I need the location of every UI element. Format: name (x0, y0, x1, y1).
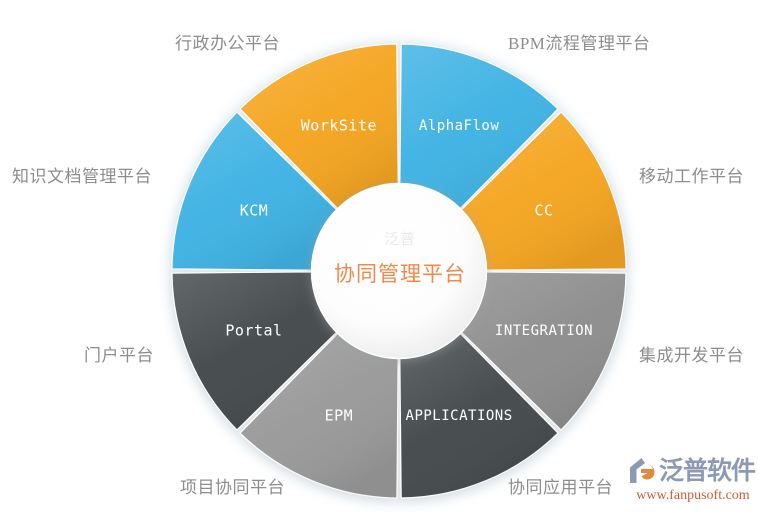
outer-label-worksite: 行政办公平台 (175, 34, 280, 54)
segment-code-epm: EPM (325, 407, 354, 425)
outer-label-cc: 移动工作平台 (639, 167, 744, 187)
segment-code-cc: CC (534, 201, 553, 219)
outer-label-portal: 门户平台 (84, 346, 154, 366)
outer-label-kcm: 知识文档管理平台 (12, 167, 152, 187)
center-ghost-text: 泛普 (313, 228, 487, 249)
watermark-url: www.fanpusoft.com (627, 488, 759, 504)
watermark: 泛普软件 www.fanpusoft.com (627, 455, 757, 507)
outer-label-alphaflow: BPM流程管理平台 (508, 34, 650, 54)
outer-label-epm: 项目协同平台 (180, 478, 285, 498)
segment-code-portal: Portal (225, 322, 282, 340)
watermark-brand: 泛普软件 (659, 456, 755, 486)
segment-code-alphaflow: AlphaFlow (419, 118, 499, 134)
donut-wheel: AlphaFlowCCINTEGRATIONAPPLICATIONSEPMPor… (0, 0, 759, 513)
outer-label-integration: 集成开发平台 (639, 346, 744, 366)
diagram-canvas: AlphaFlowCCINTEGRATIONAPPLICATIONSEPMPor… (0, 0, 759, 513)
center-title: 协同管理平台 (313, 258, 487, 288)
segment-code-applications: APPLICATIONS (406, 408, 513, 424)
segment-code-kcm: KCM (240, 201, 269, 219)
outer-label-applications: 协同应用平台 (508, 478, 613, 498)
segment-code-integration: INTEGRATION (495, 323, 593, 339)
fanpu-logo-icon (627, 456, 657, 486)
segment-code-worksite: WorkSite (301, 117, 377, 135)
